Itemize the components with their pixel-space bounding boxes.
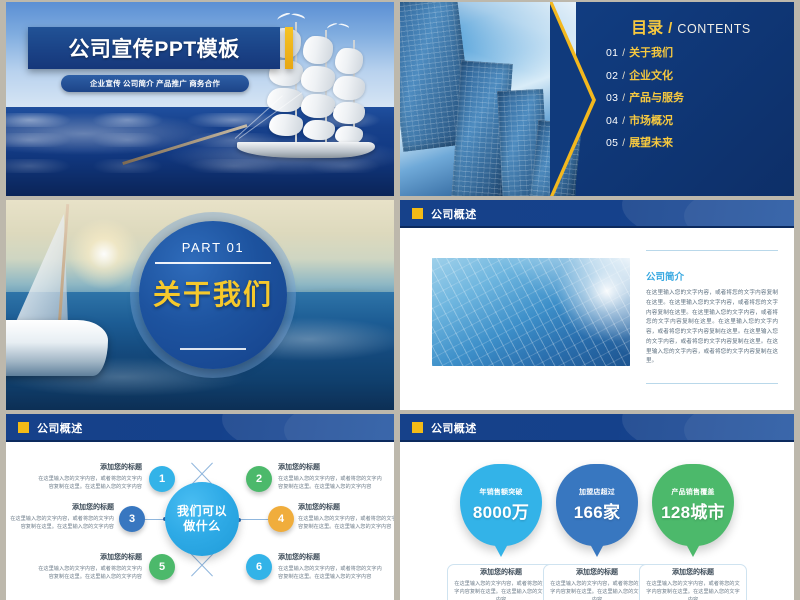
card-title: 添加您的标题 [672,567,714,577]
stat-caption: 产品销售覆盖 [671,487,714,497]
label-body: 在这里输入您的文字内容，或者将您的文字内容复制在这里。在这里输入您的文字内容 [10,515,114,532]
overview-text-block: 公司简介 在这里输入您的文字内容，或者将您的文字内容复制在这里。在这里输入您的文… [646,250,778,384]
toc-item-slash: / [622,48,625,59]
diagram-node-6[interactable]: 6 [246,554,272,580]
toc-item-label: 市场概况 [629,112,673,128]
section-part-label: PART 01 [182,240,245,255]
page-title: 公司宣传PPT模板 [28,27,280,69]
toc-heading-en: CONTENTS [677,22,751,36]
toc-item[interactable]: 04 / 市场概况 [606,112,684,128]
sun-glare [552,258,630,346]
subtitle-text: 企业宣传 公司简介 产品推广 商务合作 [90,78,220,89]
toc-item[interactable]: 01 / 关于我们 [606,44,684,60]
toc-list: 01 / 关于我们 02 / 企业文化 03 / 产品与服务 04 / 市场概况… [606,44,684,157]
toc-item-number: 02 [606,70,618,82]
label-body: 在这里输入您的文字内容，或者将您的文字内容复制在这里。在这里输入您的文字内容 [278,475,382,492]
overview-heading: 公司简介 [646,269,778,283]
card-body: 在这里输入您的文字内容，或者将您的文字内容复制在这里。在这里输入您的文字内容 [645,580,741,600]
toc-item-slash: / [622,71,625,82]
header-square-icon [412,422,423,433]
diagram-label-2: 添加您的标题 在这里输入您的文字内容，或者将您的文字内容复制在这里。在这里输入您… [278,462,382,491]
slide-header-title: 公司概述 [37,420,83,436]
toc-item-slash: / [622,138,625,149]
diagram-label-3: 添加您的标题 在这里输入您的文字内容，或者将您的文字内容复制在这里。在这里输入您… [10,502,114,531]
label-body: 在这里输入您的文字内容，或者将您的文字内容复制在这里。在这里输入您的文字内容 [38,475,142,492]
node-number: 1 [159,473,165,485]
diagram-canvas: 我们可以 做什么 1 2 3 4 5 6 添加您的标题 [6,442,394,600]
label-title: 添加您的标题 [298,502,394,512]
center-line-1: 我们可以 [177,504,227,519]
toc-item-number: 04 [606,115,618,127]
card-title: 添加您的标题 [480,567,522,577]
toc-item-slash: / [622,116,625,127]
slide-header-bar: 公司概述 [400,200,794,226]
slide-header-bar: 公司概述 [400,414,794,440]
slide-table-of-contents[interactable]: 目录 / CONTENTS 01 / 关于我们 02 / 企业文化 03 / 产… [400,2,794,196]
card-body: 在这里输入您的文字内容，或者将您的文字内容复制在这里。在这里输入您的文字内容 [549,580,645,600]
slide-header-title: 公司概述 [431,206,477,222]
label-body: 在这里输入您的文字内容，或者将您的文字内容复制在这里。在这里输入您的文字内容 [298,515,394,532]
toc-heading: 目录 / CONTENTS [596,14,786,38]
top-rule [646,250,778,251]
stat-card-3[interactable]: 添加您的标题 在这里输入您的文字内容，或者将您的文字内容复制在这里。在这里输入您… [639,564,747,600]
slide-section-divider[interactable]: PART 01 关于我们 [6,200,394,410]
diagram-node-5[interactable]: 5 [149,554,175,580]
section-circle: PART 01 关于我们 [139,221,287,369]
slide-company-overview[interactable]: 公司概述 公司简介 在这里输入您的文字内容，或者将您的文字内容复制在这里。在这里… [400,200,794,410]
stat-bubble-3[interactable]: 产品销售覆盖 128城市 [652,464,734,546]
stat-card-2[interactable]: 添加您的标题 在这里输入您的文字内容，或者将您的文字内容复制在这里。在这里输入您… [543,564,651,600]
slide-title[interactable]: 公司宣传PPT模板 企业宣传 公司简介 产品推广 商务合作 [6,2,394,196]
node-number: 6 [256,561,262,573]
label-title: 添加您的标题 [38,462,142,472]
stat-card-1[interactable]: 添加您的标题 在这里输入您的文字内容，或者将您的文字内容复制在这里。在这里输入您… [447,564,555,600]
diagram-label-5: 添加您的标题 在这里输入您的文字内容，或者将您的文字内容复制在这里。在这里输入您… [38,552,142,581]
label-body: 在这里输入您的文字内容，或者将您的文字内容复制在这里。在这里输入您的文字内容 [38,565,142,582]
toc-item-label: 关于我们 [629,44,673,60]
ppt-template-preview: 公司宣传PPT模板 企业宣传 公司简介 产品推广 商务合作 目录 / CONTE… [0,0,800,600]
stat-bubble-2[interactable]: 加盟店超过 166家 [556,464,638,546]
yacht-illustration [6,208,120,388]
stat-bubble-1[interactable]: 年销售额突破 8000万 [460,464,542,546]
toc-heading-cn: 目录 [631,14,663,38]
header-underline [400,226,794,228]
toc-item-number: 05 [606,137,618,149]
overview-body: 在这里输入您的文字内容，或者将您的文字内容复制在这里。在这里输入您的文字内容，或… [646,289,778,367]
toc-item-number: 03 [606,92,618,104]
diagram-label-6: 添加您的标题 在这里输入您的文字内容，或者将您的文字内容复制在这里。在这里输入您… [278,552,382,581]
label-title: 添加您的标题 [278,462,382,472]
label-title: 添加您的标题 [10,502,114,512]
toc-heading-slash: / [668,20,672,37]
header-swoosh [684,200,794,226]
toc-item-slash: / [622,93,625,104]
diagram-center-circle: 我们可以 做什么 [165,482,239,556]
toc-item-number: 01 [606,47,618,59]
toc-item[interactable]: 02 / 企业文化 [606,67,684,83]
header-swoosh [684,414,794,440]
section-title: 关于我们 [153,273,273,313]
node-number: 3 [129,513,135,525]
stat-value: 166家 [574,498,621,523]
diagram-label-1: 添加您的标题 在这里输入您的文字内容，或者将您的文字内容复制在这里。在这里输入您… [38,462,142,491]
stat-caption: 年销售额突破 [479,487,522,497]
node-number: 2 [256,473,262,485]
toc-item-label: 产品与服务 [629,89,684,105]
node-number: 5 [159,561,165,573]
accent-bar [285,27,293,69]
slide-header-title: 公司概述 [431,420,477,436]
diagram-node-1[interactable]: 1 [149,466,175,492]
header-swoosh [284,414,394,440]
label-body: 在这里输入您的文字内容，或者将您的文字内容复制在这里。在这里输入您的文字内容 [278,565,382,582]
slide-header-bar: 公司概述 [6,414,394,440]
stat-caption: 加盟店超过 [579,487,615,497]
title-banner: 公司宣传PPT模板 [28,27,280,69]
stat-value: 8000万 [473,498,529,523]
toc-item[interactable]: 05 / 展望未来 [606,134,684,150]
label-title: 添加您的标题 [38,552,142,562]
header-square-icon [412,208,423,219]
divider-rule [155,262,271,264]
diagram-node-4[interactable]: 4 [268,506,294,532]
slide-capability-diagram[interactable]: 公司概述 我们可以 做什么 1 2 3 4 [6,414,394,600]
toc-item-label: 企业文化 [629,67,673,83]
divider-rule-short [180,348,246,350]
diagram-node-3[interactable]: 3 [119,506,145,532]
card-body: 在这里输入您的文字内容，或者将您的文字内容复制在这里。在这里输入您的文字内容 [453,580,549,600]
subtitle-pill: 企业宣传 公司简介 产品推广 商务合作 [61,75,249,92]
node-number: 4 [278,513,284,525]
diagram-node-2[interactable]: 2 [246,466,272,492]
stats-canvas: 年销售额突破 8000万 加盟店超过 166家 产品销售覆盖 128城市 添加您… [400,442,794,600]
bottom-rule [646,383,778,384]
glass-building-photo [432,258,630,366]
card-title: 添加您的标题 [576,567,618,577]
stat-value: 128城市 [661,498,725,523]
toc-item-label: 展望未来 [629,134,673,150]
diagram-label-4: 添加您的标题 在这里输入您的文字内容，或者将您的文字内容复制在这里。在这里输入您… [298,502,394,531]
center-line-2: 做什么 [183,519,221,534]
label-title: 添加您的标题 [278,552,382,562]
toc-item[interactable]: 03 / 产品与服务 [606,89,684,105]
chevron-inner [550,4,592,196]
header-square-icon [18,422,29,433]
slide-key-statistics[interactable]: 公司概述 年销售额突破 8000万 加盟店超过 166家 产品销售覆盖 128城… [400,414,794,600]
